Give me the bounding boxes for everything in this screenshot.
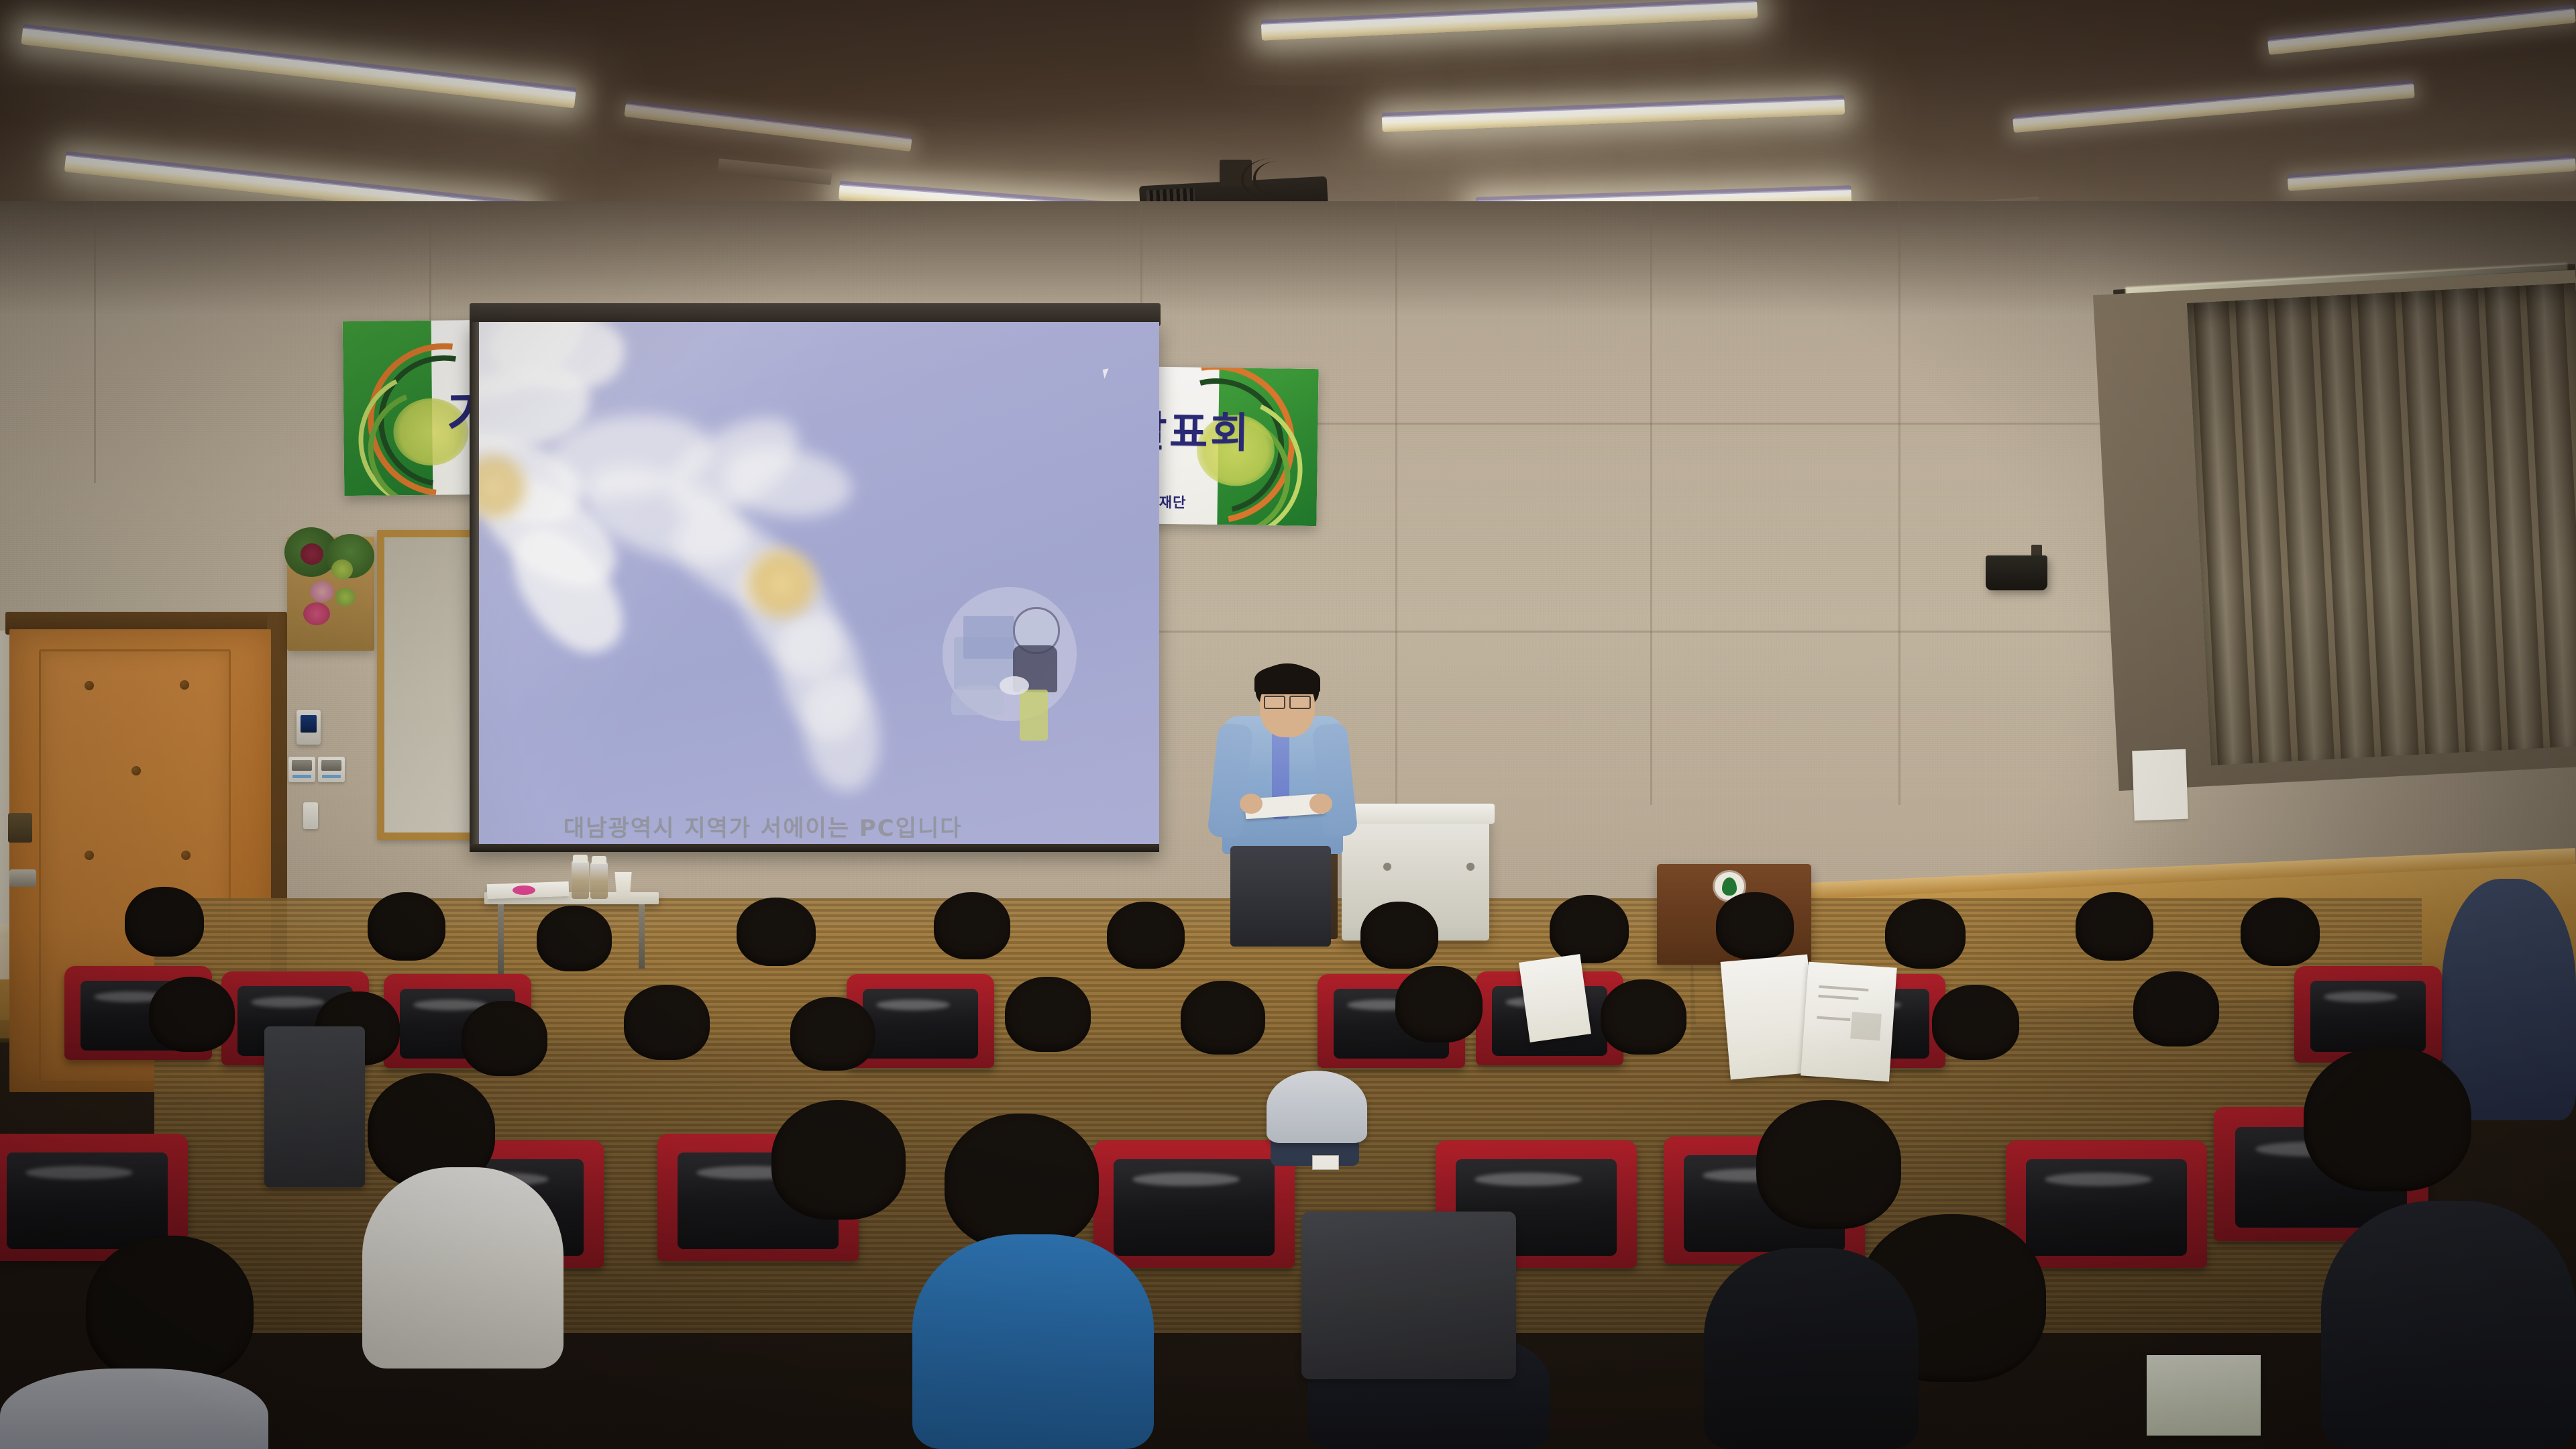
attendee-handout xyxy=(1519,954,1591,1042)
floral-bloom xyxy=(331,559,353,580)
seat-cushion xyxy=(2310,981,2426,1052)
seat-highlight xyxy=(876,1000,950,1010)
attendee-head xyxy=(2241,898,2320,966)
seat-cushion xyxy=(7,1152,168,1249)
attendee-head xyxy=(1181,981,1265,1055)
attendee-torso xyxy=(912,1234,1154,1449)
attendee-torso xyxy=(1704,1248,1919,1449)
attendee-head xyxy=(462,1001,547,1076)
attendee-head xyxy=(790,997,875,1071)
attendee-torso xyxy=(0,1368,268,1449)
attendee-torso xyxy=(362,1167,563,1368)
attendee-head xyxy=(2076,892,2153,961)
presenter-hand xyxy=(1309,794,1332,814)
wall-tile-seam xyxy=(1650,201,1652,805)
handout-diagram xyxy=(1850,1012,1882,1040)
attendee-bag xyxy=(264,1026,365,1187)
seat-highlight xyxy=(251,997,325,1008)
seat-highlight xyxy=(1474,1173,1582,1186)
attendee-notebook xyxy=(2147,1355,2261,1436)
attendee-head xyxy=(1107,902,1185,969)
wall-speaker xyxy=(1986,555,2047,590)
door-tuft-button xyxy=(85,681,94,690)
light-switch-rocker[interactable] xyxy=(321,760,341,771)
attendee-head xyxy=(1395,966,1483,1042)
auditorium-photo: 기 발표회 국연구재단 xyxy=(0,0,2576,1449)
attendee-head xyxy=(1716,892,1794,959)
screen-bottom-bar xyxy=(470,844,1159,852)
attendee-head xyxy=(2133,971,2219,1046)
cap-label-tag xyxy=(1312,1155,1339,1170)
bottle-cap xyxy=(573,855,588,863)
handout-marking xyxy=(513,885,535,895)
water-bottle xyxy=(572,860,589,899)
attendee-head xyxy=(537,906,612,971)
bottle-cap xyxy=(592,856,606,864)
outlet-plate[interactable] xyxy=(303,802,318,829)
attendee-head xyxy=(2304,1046,2471,1191)
attendee-head xyxy=(1550,895,1629,963)
switch-indicator xyxy=(322,775,341,778)
seat-cushion xyxy=(2026,1159,2187,1256)
auditorium-seat[interactable] xyxy=(2006,1140,2207,1268)
attendee-head xyxy=(945,1114,1099,1249)
seat-cushion xyxy=(1114,1159,1275,1256)
wall-tile-seam xyxy=(94,201,96,483)
seat-highlight xyxy=(2045,1173,2152,1186)
floral-bloom xyxy=(301,543,323,565)
attendee-head xyxy=(771,1100,906,1220)
seat-highlight xyxy=(1132,1173,1240,1186)
floral-bloom xyxy=(303,602,330,625)
seat-cushion xyxy=(863,989,978,1059)
switch-indicator xyxy=(292,775,311,778)
attendee-bag xyxy=(1301,1212,1516,1379)
attendee-head xyxy=(1932,985,2019,1060)
presenter-glasses-icon xyxy=(1264,696,1285,709)
wall-tile-seam xyxy=(1395,201,1397,805)
baseball-cap xyxy=(1267,1071,1367,1143)
projector-cable xyxy=(1253,161,1303,196)
presenter xyxy=(1207,654,1382,943)
notice-board xyxy=(377,530,478,840)
door-handle[interactable] xyxy=(9,869,36,887)
access-panel-display xyxy=(301,715,317,733)
seat-highlight xyxy=(25,1166,133,1179)
attendee-handout xyxy=(1801,962,1897,1082)
attendee-head xyxy=(86,1236,254,1383)
handout-text-line xyxy=(1818,995,1858,1000)
wall-tile-seam xyxy=(1898,201,1900,805)
presenter-glasses-icon xyxy=(1289,696,1311,709)
handout-text-line xyxy=(1819,985,1868,991)
presenter-hair xyxy=(1254,665,1320,694)
attendee-head xyxy=(737,898,816,966)
door-tuft-button xyxy=(85,851,94,860)
projection-screen: 대남광역시 지역가 서에이는 PC입니다 xyxy=(470,322,1159,852)
handout-text-line xyxy=(1817,1016,1850,1021)
presenter-hand xyxy=(1240,794,1263,814)
attendee-head xyxy=(1601,979,1686,1055)
attendee-head xyxy=(624,985,710,1060)
window-curtain[interactable] xyxy=(2187,283,2576,765)
attendee-head xyxy=(1885,899,1966,969)
notice-board-surface xyxy=(384,537,470,833)
attendee-head xyxy=(368,892,445,961)
light-switch-rocker[interactable] xyxy=(292,760,312,771)
door-lock-plate[interactable] xyxy=(8,813,32,843)
attendee-head xyxy=(125,887,204,957)
wall-notice-paper xyxy=(2132,749,2188,821)
floral-bloom xyxy=(310,581,334,602)
podium-fitting xyxy=(1466,863,1474,871)
water-bottle xyxy=(590,861,608,899)
attendee-head xyxy=(1360,902,1438,969)
podium-fitting xyxy=(1383,863,1391,871)
attendee-head xyxy=(934,892,1010,959)
door-tuft-button xyxy=(181,851,191,860)
door-tuft-button xyxy=(131,766,141,775)
wall-tile-seam xyxy=(1140,631,2147,633)
attendee-head xyxy=(149,977,235,1052)
seat-highlight xyxy=(2324,991,2398,1002)
attendee-head xyxy=(1005,977,1091,1052)
auditorium-seat[interactable] xyxy=(1093,1140,1295,1268)
screen-left-edge xyxy=(470,322,479,852)
attendee-head xyxy=(1756,1100,1901,1229)
floral-bloom xyxy=(335,588,356,606)
screen-sheen xyxy=(470,322,1159,852)
attendee-torso xyxy=(2321,1201,2576,1449)
door-tuft-button xyxy=(180,680,189,690)
